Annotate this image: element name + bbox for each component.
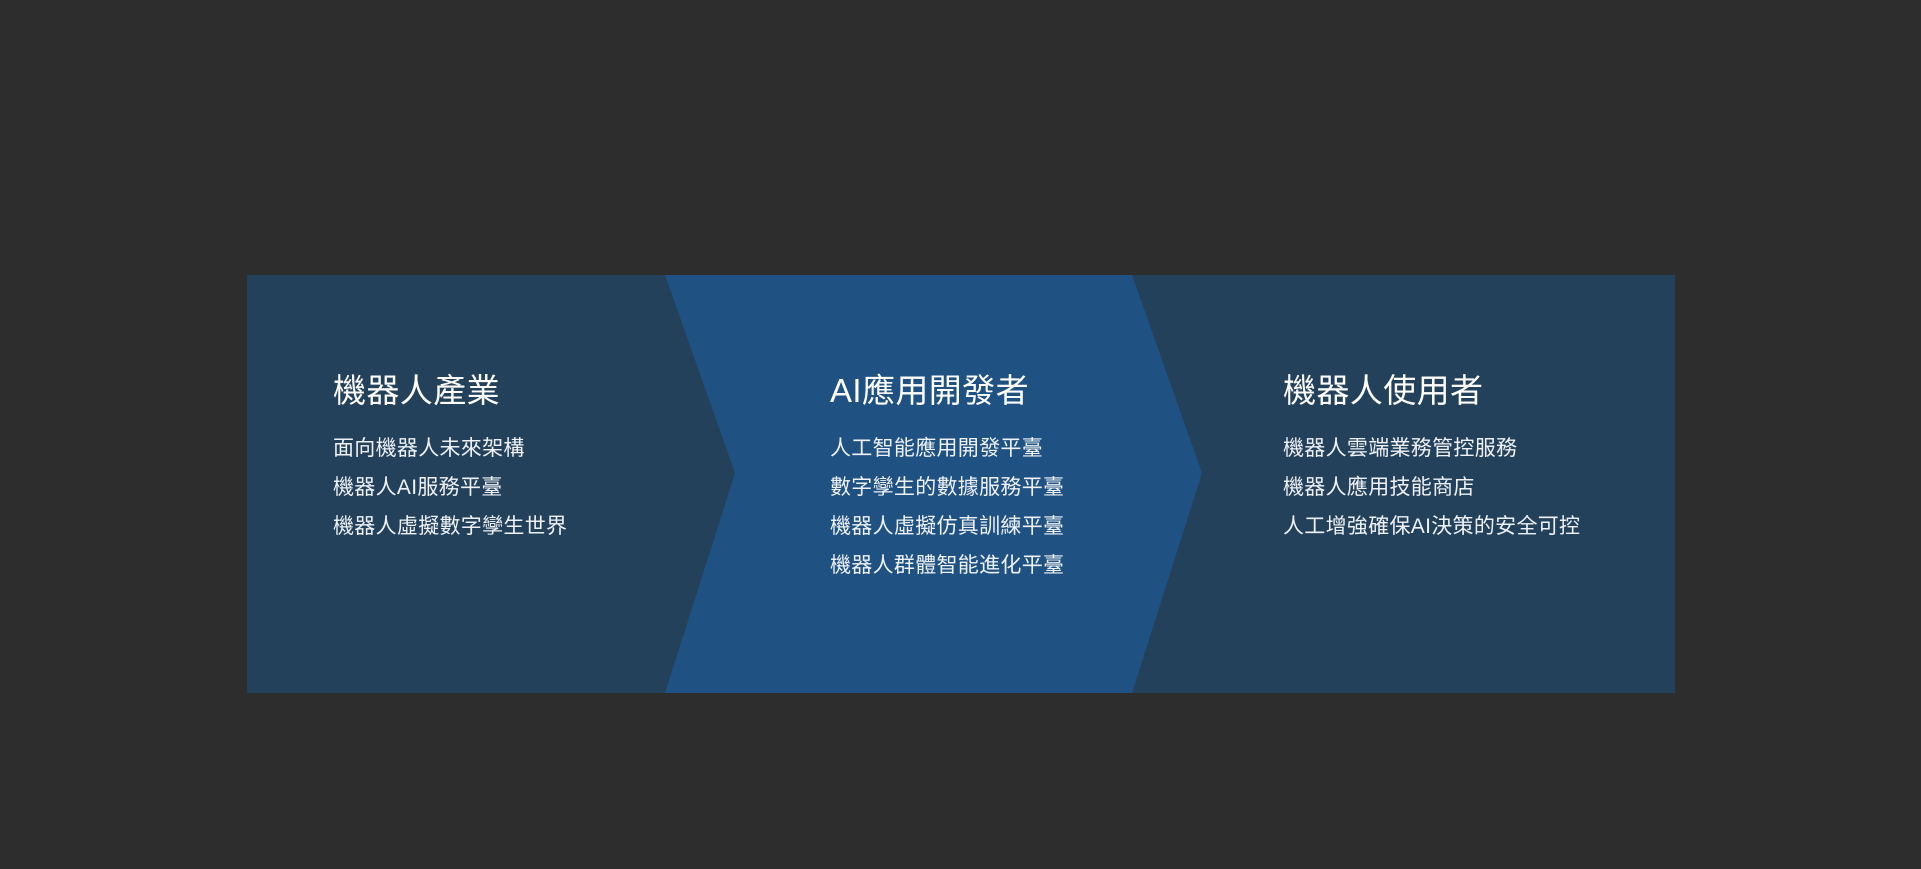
list-item: 面向機器人未來架構	[333, 429, 567, 468]
list-item: 人工智能應用開發平臺	[830, 429, 1064, 468]
column-items-ai-app-developer: 人工智能應用開發平臺 數字孿生的數據服務平臺 機器人虛擬仿真訓練平臺 機器人群體…	[830, 429, 1064, 585]
list-item: 機器人群體智能進化平臺	[830, 546, 1064, 585]
list-item: 機器人虛擬數字孿生世界	[333, 507, 567, 546]
list-item: 機器人虛擬仿真訓練平臺	[830, 507, 1064, 546]
list-item: 人工增強確保AI決策的安全可控	[1283, 507, 1580, 546]
list-item: 數字孿生的數據服務平臺	[830, 468, 1064, 507]
list-item: 機器人應用技能商店	[1283, 468, 1580, 507]
list-item: 機器人雲端業務管控服務	[1283, 429, 1580, 468]
column-heading-robot-industry: 機器人產業	[333, 371, 500, 411]
slide-canvas: 機器人產業 面向機器人未來架構 機器人AI服務平臺 機器人虛擬數字孿生世界 AI…	[0, 0, 1921, 869]
column-heading-ai-app-developer: AI應用開發者	[830, 371, 1029, 411]
list-item: 機器人AI服務平臺	[333, 468, 567, 507]
column-heading-robot-user: 機器人使用者	[1283, 371, 1483, 411]
column-items-robot-industry: 面向機器人未來架構 機器人AI服務平臺 機器人虛擬數字孿生世界	[333, 429, 567, 546]
column-items-robot-user: 機器人雲端業務管控服務 機器人應用技能商店 人工增強確保AI決策的安全可控	[1283, 429, 1580, 546]
